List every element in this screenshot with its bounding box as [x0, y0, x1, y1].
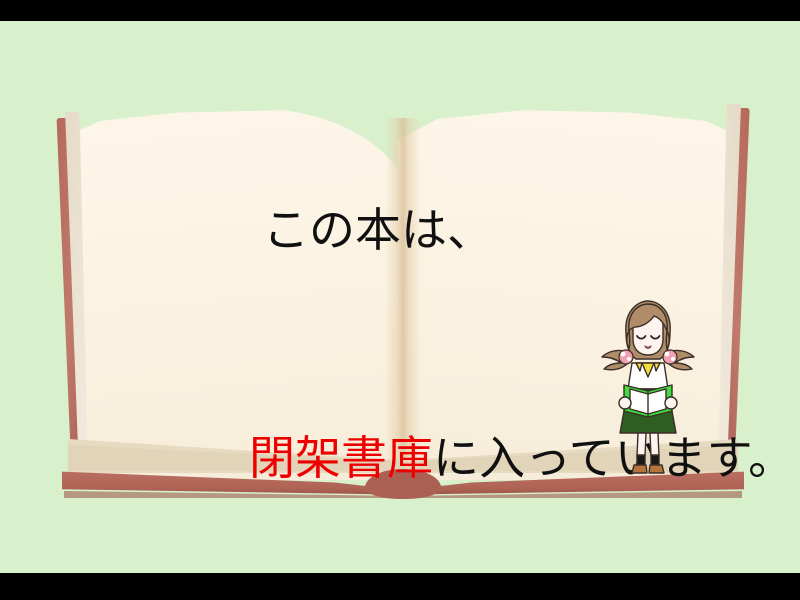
- screenshot-stage: この本は、 閉架書庫に入っています。 図書館員に 問い合わせください。: [0, 0, 800, 600]
- notice-line-1-text: この本は、: [263, 203, 493, 257]
- closed-stacks-highlight: 閉架書庫: [249, 431, 433, 485]
- letterbox-bottom: [0, 573, 800, 600]
- letterbox-top: [0, 0, 800, 21]
- girl-reading-icon: [600, 297, 696, 477]
- slide-canvas: この本は、 閉架書庫に入っています。 図書館員に 問い合わせください。: [0, 21, 800, 573]
